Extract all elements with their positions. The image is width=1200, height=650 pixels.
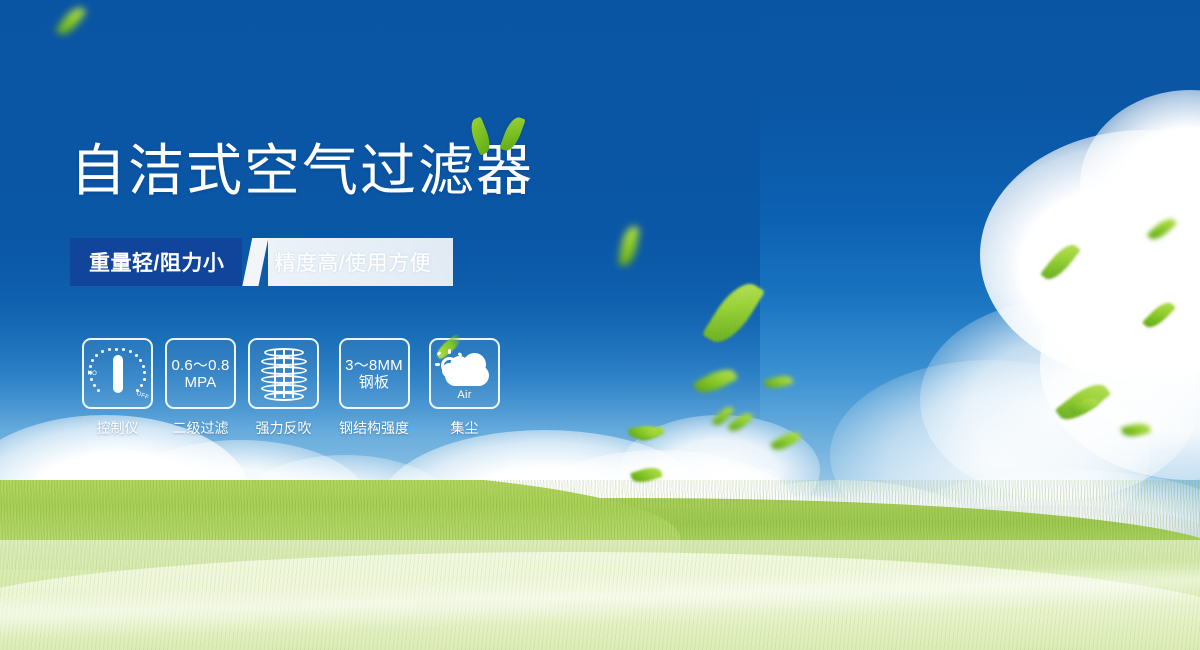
feature-icon-box: Air [429, 338, 500, 409]
sprout-leaf-right-icon [499, 115, 525, 154]
feature-item-steel-strength[interactable]: 3〜8MM 钢板 钢结构强度 [329, 338, 419, 438]
subtitle-bar: 重量轻/阻力小 精度高/使用方便 [70, 238, 453, 286]
feature-icon-box: 0.6〜0.8 MPA [165, 338, 236, 409]
sprout-leaf-left-icon [467, 117, 494, 156]
pressure-text-icon: 0.6〜0.8 MPA [171, 357, 229, 391]
pressure-unit-value: MPA [171, 374, 229, 391]
subtitle-right-label: 精度高/使用方便 [274, 247, 431, 277]
subtitle-divider-slash [242, 238, 268, 286]
gauge-on-label: NO [88, 371, 98, 377]
gauge-off-label: OFF [135, 390, 149, 400]
feature-icon-box: 3〜8MM 钢板 [339, 338, 410, 409]
steel-thickness-value: 3〜8MM [345, 357, 403, 374]
feature-label: 二级过滤 [163, 418, 238, 438]
feature-label: 集尘 [427, 418, 502, 438]
feature-label: 钢结构强度 [329, 418, 419, 438]
feature-item-backblow[interactable]: 强力反吹 [246, 338, 321, 438]
feature-item-controller[interactable]: NO OFF 控制仪 [80, 338, 155, 438]
filter-stack-icon [261, 348, 307, 400]
air-caption: Air [437, 389, 493, 401]
cloud-air-icon: Air [437, 349, 493, 399]
subtitle-left-segment: 重量轻/阻力小 [70, 238, 242, 286]
sprout-leaves-icon [465, 110, 535, 162]
feature-label: 强力反吹 [246, 418, 321, 438]
grass-field [0, 480, 1200, 650]
gauge-icon: NO OFF [89, 346, 147, 402]
feature-icon-box [248, 338, 319, 409]
feature-item-dust-collection[interactable]: Air 集尘 [427, 338, 502, 438]
subtitle-right-segment: 精度高/使用方便 [268, 238, 453, 286]
cloud-body [445, 365, 489, 386]
pressure-range-value: 0.6〜0.8 [171, 357, 229, 374]
steel-material-value: 钢板 [345, 374, 403, 391]
gauge-needle-icon [113, 355, 123, 393]
feature-icon-box: NO OFF [82, 338, 153, 409]
feature-list: NO OFF 控制仪 0.6〜0.8 MPA 二级过滤 [80, 338, 502, 438]
feature-label: 控制仪 [80, 418, 155, 438]
feature-item-filtration[interactable]: 0.6〜0.8 MPA 二级过滤 [163, 338, 238, 438]
product-banner: 自洁式空气过滤器 重量轻/阻力小 精度高/使用方便 [0, 0, 1200, 650]
steel-plate-text-icon: 3〜8MM 钢板 [345, 357, 403, 391]
